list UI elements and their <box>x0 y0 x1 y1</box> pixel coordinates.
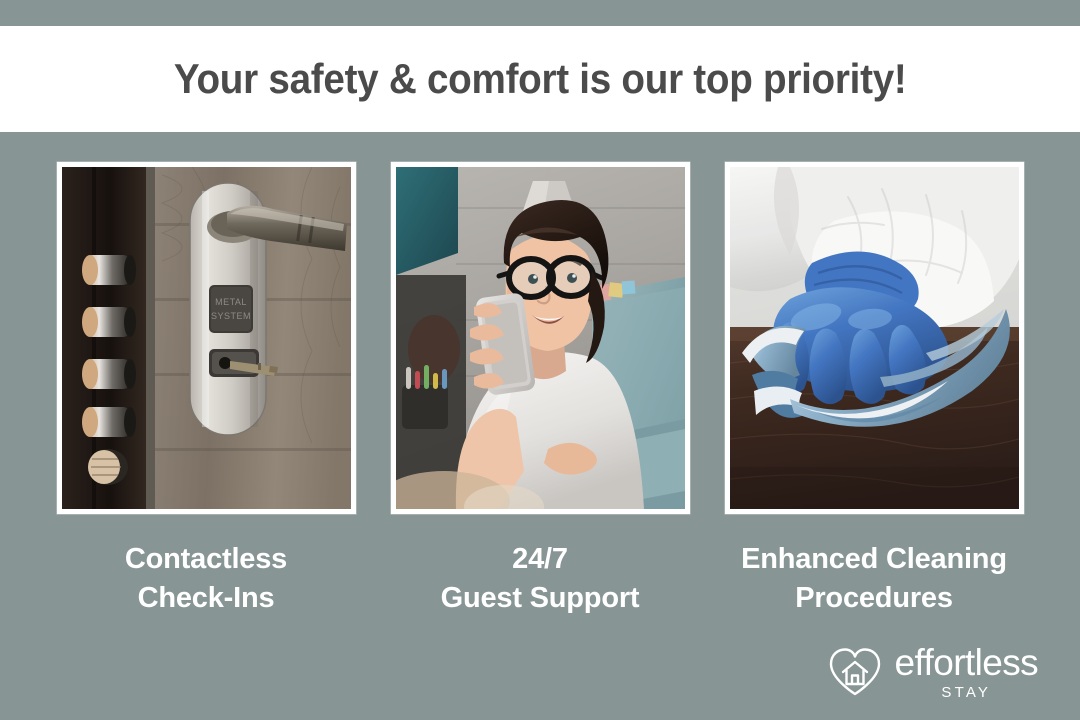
header-band: Your safety & comfort is our top priorit… <box>0 26 1080 132</box>
photo-enhanced-cleaning <box>730 167 1019 509</box>
photo-guest-support <box>396 167 685 509</box>
lock-brand-line1: METAL <box>215 297 247 307</box>
feature-caption: Contactless Check-Ins <box>125 540 287 617</box>
photo-contactless-check-ins: METAL SYSTEM <box>62 167 351 509</box>
lock-brand-line2: SYSTEM <box>210 311 250 321</box>
feature-card-guest-support: 24/7 Guest Support <box>391 162 690 617</box>
feature-caption: Enhanced Cleaning Procedures <box>741 540 1007 617</box>
photo-frame <box>391 162 690 514</box>
feature-caption: 24/7 Guest Support <box>441 540 640 617</box>
page-title: Your safety & comfort is our top priorit… <box>174 55 907 103</box>
feature-card-contactless-check-ins: METAL SYSTEM Contactless Check-Ins <box>57 162 356 617</box>
logo-tagline: STAY <box>941 685 991 700</box>
photo-frame <box>725 162 1024 514</box>
feature-card-enhanced-cleaning: Enhanced Cleaning Procedures <box>725 162 1024 617</box>
brand-logo: effortless STAY <box>827 644 1038 700</box>
poster: Your safety & comfort is our top priorit… <box>0 0 1080 720</box>
heart-house-icon <box>827 646 883 698</box>
photo-frame: METAL SYSTEM <box>57 162 356 514</box>
logo-text: effortless STAY <box>895 644 1038 700</box>
feature-cards: METAL SYSTEM Contactless Check-Ins <box>0 162 1080 617</box>
logo-wordmark: effortless <box>895 644 1038 681</box>
